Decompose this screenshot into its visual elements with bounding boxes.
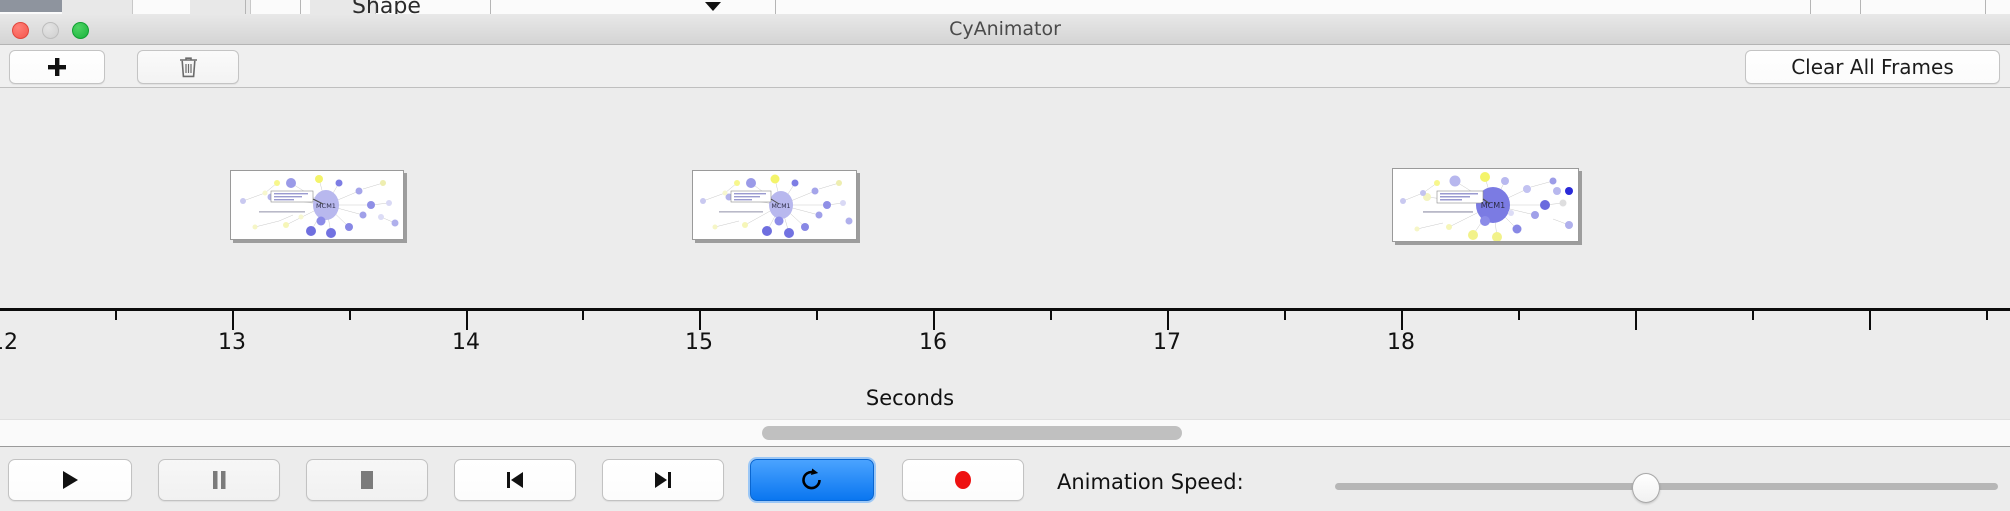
svg-text:MCM1: MCM1 <box>772 203 791 210</box>
cyanimator-window: Shape CyAnimator <box>0 0 2010 510</box>
playback-controls: Animation Speed: <box>0 446 2010 511</box>
loop-icon <box>800 468 824 492</box>
record-icon <box>952 469 974 491</box>
ruler-baseline <box>0 308 2010 311</box>
timeline-panel[interactable]: MCM1 <box>0 88 2010 324</box>
pause-button[interactable] <box>158 459 280 501</box>
ruler-tick-label: 14 <box>452 330 480 355</box>
skip-to-start-button[interactable] <box>454 459 576 501</box>
animation-speed-slider-knob[interactable] <box>1632 473 1660 503</box>
ruler-tick-label: 16 <box>919 330 947 355</box>
ruler-axis-title-text: Seconds <box>866 386 954 410</box>
timeline-ruler[interactable]: 12 13 14 15 16 17 18 <box>0 308 2010 368</box>
skip-start-icon <box>504 469 526 491</box>
svg-text:MCM1: MCM1 <box>1481 201 1505 210</box>
background-window-label: Shape <box>352 0 421 14</box>
background-tab <box>190 0 251 14</box>
add-frame-button[interactable] <box>9 50 105 84</box>
background-titlebar-block <box>0 0 62 12</box>
clear-all-frames-label: Clear All Frames <box>1791 55 1954 79</box>
ruler-tick-label: 17 <box>1153 330 1181 355</box>
window-titlebar: CyAnimator <box>0 14 2010 45</box>
background-tab <box>62 0 133 14</box>
window-title: CyAnimator <box>0 14 2010 44</box>
animation-speed-slider[interactable] <box>1335 483 1998 490</box>
animation-speed-label: Animation Speed: <box>1057 470 1244 494</box>
play-icon <box>60 469 80 491</box>
stop-button[interactable] <box>306 459 428 501</box>
svg-text:MCM1: MCM1 <box>316 202 336 210</box>
delete-frame-button[interactable] <box>137 50 239 84</box>
record-button[interactable] <box>902 459 1024 501</box>
clear-all-frames-button[interactable]: Clear All Frames <box>1745 50 2000 84</box>
skip-to-end-button[interactable] <box>602 459 724 501</box>
background-window-strip: Shape <box>0 0 2010 14</box>
ruler-tick-label: 13 <box>218 330 246 355</box>
ruler-tick-label: 18 <box>1387 330 1415 355</box>
loop-button[interactable] <box>750 459 874 501</box>
play-button[interactable] <box>8 459 132 501</box>
timeline-frame-thumbnail[interactable]: MCM1 <box>692 170 857 240</box>
pause-icon <box>210 469 228 491</box>
toolbar: Clear All Frames <box>0 45 2010 88</box>
skip-end-icon <box>652 469 674 491</box>
timeline-frame-thumbnail[interactable]: MCM1 <box>1392 168 1579 242</box>
trash-icon <box>179 56 198 78</box>
ruler-tick-label: 15 <box>685 330 713 355</box>
ruler-tick-label: 12 <box>0 330 18 355</box>
stop-icon <box>357 469 377 491</box>
ruler-axis-title: Seconds <box>0 386 2010 410</box>
timeline-frame-thumbnail[interactable]: MCM1 <box>230 170 404 240</box>
horizontal-scrollbar[interactable] <box>0 419 2010 447</box>
horizontal-scrollbar-thumb[interactable] <box>762 426 1182 440</box>
plus-icon <box>46 56 68 78</box>
